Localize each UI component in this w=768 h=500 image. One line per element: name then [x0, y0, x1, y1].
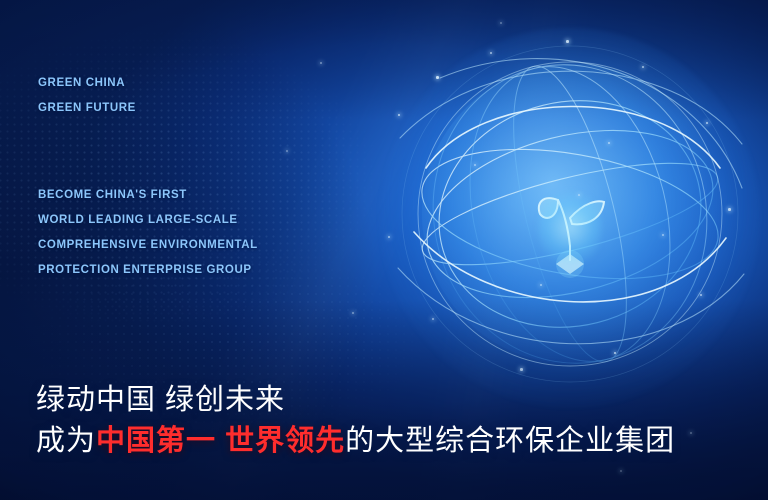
chinese-headline: 绿动中国 绿创未来 成为中国第一 世界领先的大型综合环保企业集团 [36, 380, 675, 462]
english-slogan: GREEN CHINA GREEN FUTURE [38, 71, 136, 121]
chinese-headline-line-1: 绿动中国 绿创未来 [36, 380, 675, 420]
english-statement-line-3: COMPREHENSIVE ENVIRONMENTAL [38, 233, 258, 258]
english-statement-line-1: BECOME CHINA'S FIRST [38, 183, 258, 208]
english-statement-line-2: WORLD LEADING LARGE-SCALE [38, 208, 258, 233]
english-statement: BECOME CHINA'S FIRST WORLD LEADING LARGE… [38, 183, 258, 283]
hero-banner: GREEN CHINA GREEN FUTURE BECOME CHINA'S … [0, 0, 768, 500]
english-slogan-line-1: GREEN CHINA [38, 71, 136, 96]
english-slogan-line-2: GREEN FUTURE [38, 96, 136, 121]
chinese-headline-line-2: 成为中国第一 世界领先的大型综合环保企业集团 [36, 420, 675, 462]
chinese-headline-suffix: 的大型综合环保企业集团 [345, 425, 675, 457]
english-statement-line-4: PROTECTION ENTERPRISE GROUP [38, 258, 258, 283]
chinese-headline-prefix: 成为 [36, 425, 96, 457]
chinese-headline-accent: 中国第一 世界领先 [96, 425, 345, 457]
